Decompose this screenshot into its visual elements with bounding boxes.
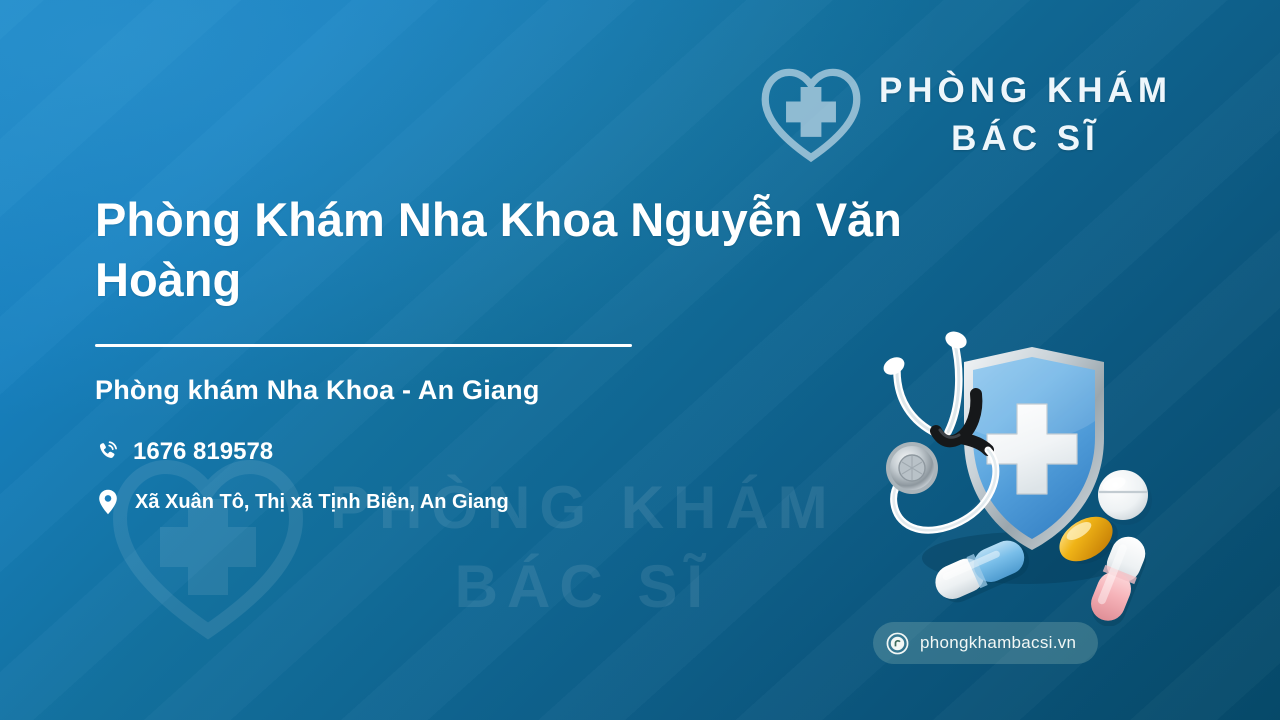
divider [95,344,632,347]
website-url: phongkhambacsi.vn [920,633,1076,653]
brand-text: PHÒNG KHÁM BÁC SĨ [879,73,1172,156]
brand-logo: PHÒNG KHÁM BÁC SĨ [759,62,1172,166]
watermark-line2: BÁC SĨ [455,555,712,618]
clinic-banner: PHÒNG KHÁM BÁC SĨ PHÒNG KHÁM BÁC SĨ Phòn… [0,0,1280,720]
phone-row: 1676 819578 [95,438,935,466]
subtitle: Phòng khám Nha Khoa - An Giang [95,375,935,406]
brand-line1: PHÒNG KHÁM [879,73,1172,108]
brand-logo-icon [759,62,863,166]
phone-icon [95,440,119,464]
location-pin-icon [98,490,118,514]
website-badge[interactable]: phongkhambacsi.vn [873,622,1098,664]
content-block: Phòng Khám Nha Khoa Nguyễn Văn Hoàng Phò… [95,190,935,514]
globe-icon [886,632,909,655]
address-row: Xã Xuân Tô, Thị xã Tịnh Biên, An Giang [95,490,935,514]
address-text: Xã Xuân Tô, Thị xã Tịnh Biên, An Giang [135,491,509,514]
brand-line2: BÁC SĨ [951,121,1100,156]
page-title: Phòng Khám Nha Khoa Nguyễn Văn Hoàng [95,190,910,310]
phone-number: 1676 819578 [133,438,273,466]
